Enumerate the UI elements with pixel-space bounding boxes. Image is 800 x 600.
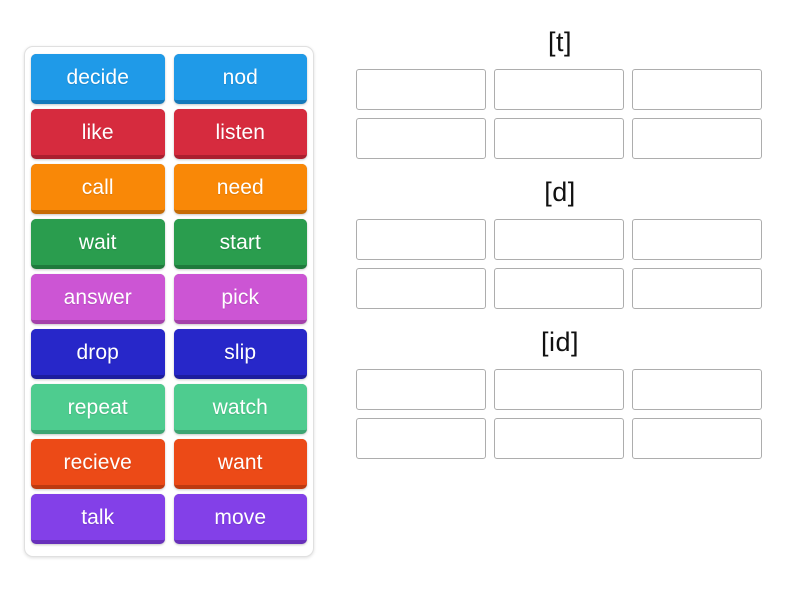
sort-group-title: [id] [340,328,780,357]
drop-slot[interactable] [494,268,624,309]
word-tile-label: answer [64,286,132,310]
drop-slot[interactable] [632,69,762,110]
drop-slot[interactable] [632,418,762,459]
drop-slot[interactable] [356,268,486,309]
drop-slot[interactable] [632,118,762,159]
sort-group: [id] [340,328,780,459]
word-tile[interactable]: answer [31,274,165,324]
drop-slot[interactable] [494,69,624,110]
drop-slot[interactable] [632,268,762,309]
word-tile-label: call [82,176,114,200]
word-tile[interactable]: pick [174,274,308,324]
word-tile-label: wait [79,231,117,255]
word-tile-grid: decidenodlikelistencallneedwaitstartansw… [31,54,307,544]
drop-slot[interactable] [494,118,624,159]
word-tile[interactable]: watch [174,384,308,434]
word-tile[interactable]: start [174,219,308,269]
drop-slot[interactable] [494,369,624,410]
drop-slot-grid [340,369,780,459]
word-tile[interactable]: like [31,109,165,159]
word-tile-label: want [218,451,263,475]
word-tile-label: slip [224,341,256,365]
word-tile[interactable]: slip [174,329,308,379]
word-tile[interactable]: nod [174,54,308,104]
drop-slot[interactable] [632,369,762,410]
word-tile-label: pick [221,286,259,310]
word-tile-label: start [220,231,261,255]
word-tile-label: like [82,121,114,145]
word-tile-label: decide [67,66,129,90]
drop-slot-grid [340,219,780,309]
drop-slot[interactable] [356,118,486,159]
sort-group: [t] [340,28,780,159]
word-tile[interactable]: move [174,494,308,544]
word-tile[interactable]: listen [174,109,308,159]
word-tile-label: talk [81,506,114,530]
word-tile[interactable]: call [31,164,165,214]
word-tile-label: repeat [68,396,128,420]
drop-slot[interactable] [356,369,486,410]
drop-slot[interactable] [494,219,624,260]
word-tile-label: need [217,176,264,200]
drop-slot-grid [340,69,780,159]
word-tile-label: drop [77,341,119,365]
sort-group-title: [d] [340,178,780,207]
word-tile[interactable]: need [174,164,308,214]
drop-slot[interactable] [632,219,762,260]
drop-slot[interactable] [494,418,624,459]
word-tile[interactable]: recieve [31,439,165,489]
word-tile[interactable]: drop [31,329,165,379]
drop-slot[interactable] [356,418,486,459]
word-tile[interactable]: wait [31,219,165,269]
drop-slot[interactable] [356,69,486,110]
word-tile[interactable]: want [174,439,308,489]
word-tile-label: recieve [64,451,132,475]
drop-slot[interactable] [356,219,486,260]
sort-group-title: [t] [340,28,780,57]
word-tile-label: nod [223,66,258,90]
word-tile-label: move [214,506,266,530]
word-bank-panel: decidenodlikelistencallneedwaitstartansw… [24,46,314,557]
word-tile-label: listen [215,121,265,145]
word-tile-label: watch [213,396,268,420]
word-tile[interactable]: decide [31,54,165,104]
sort-group: [d] [340,178,780,309]
word-tile[interactable]: repeat [31,384,165,434]
word-tile[interactable]: talk [31,494,165,544]
sorting-columns: [t][d][id] [340,28,780,478]
